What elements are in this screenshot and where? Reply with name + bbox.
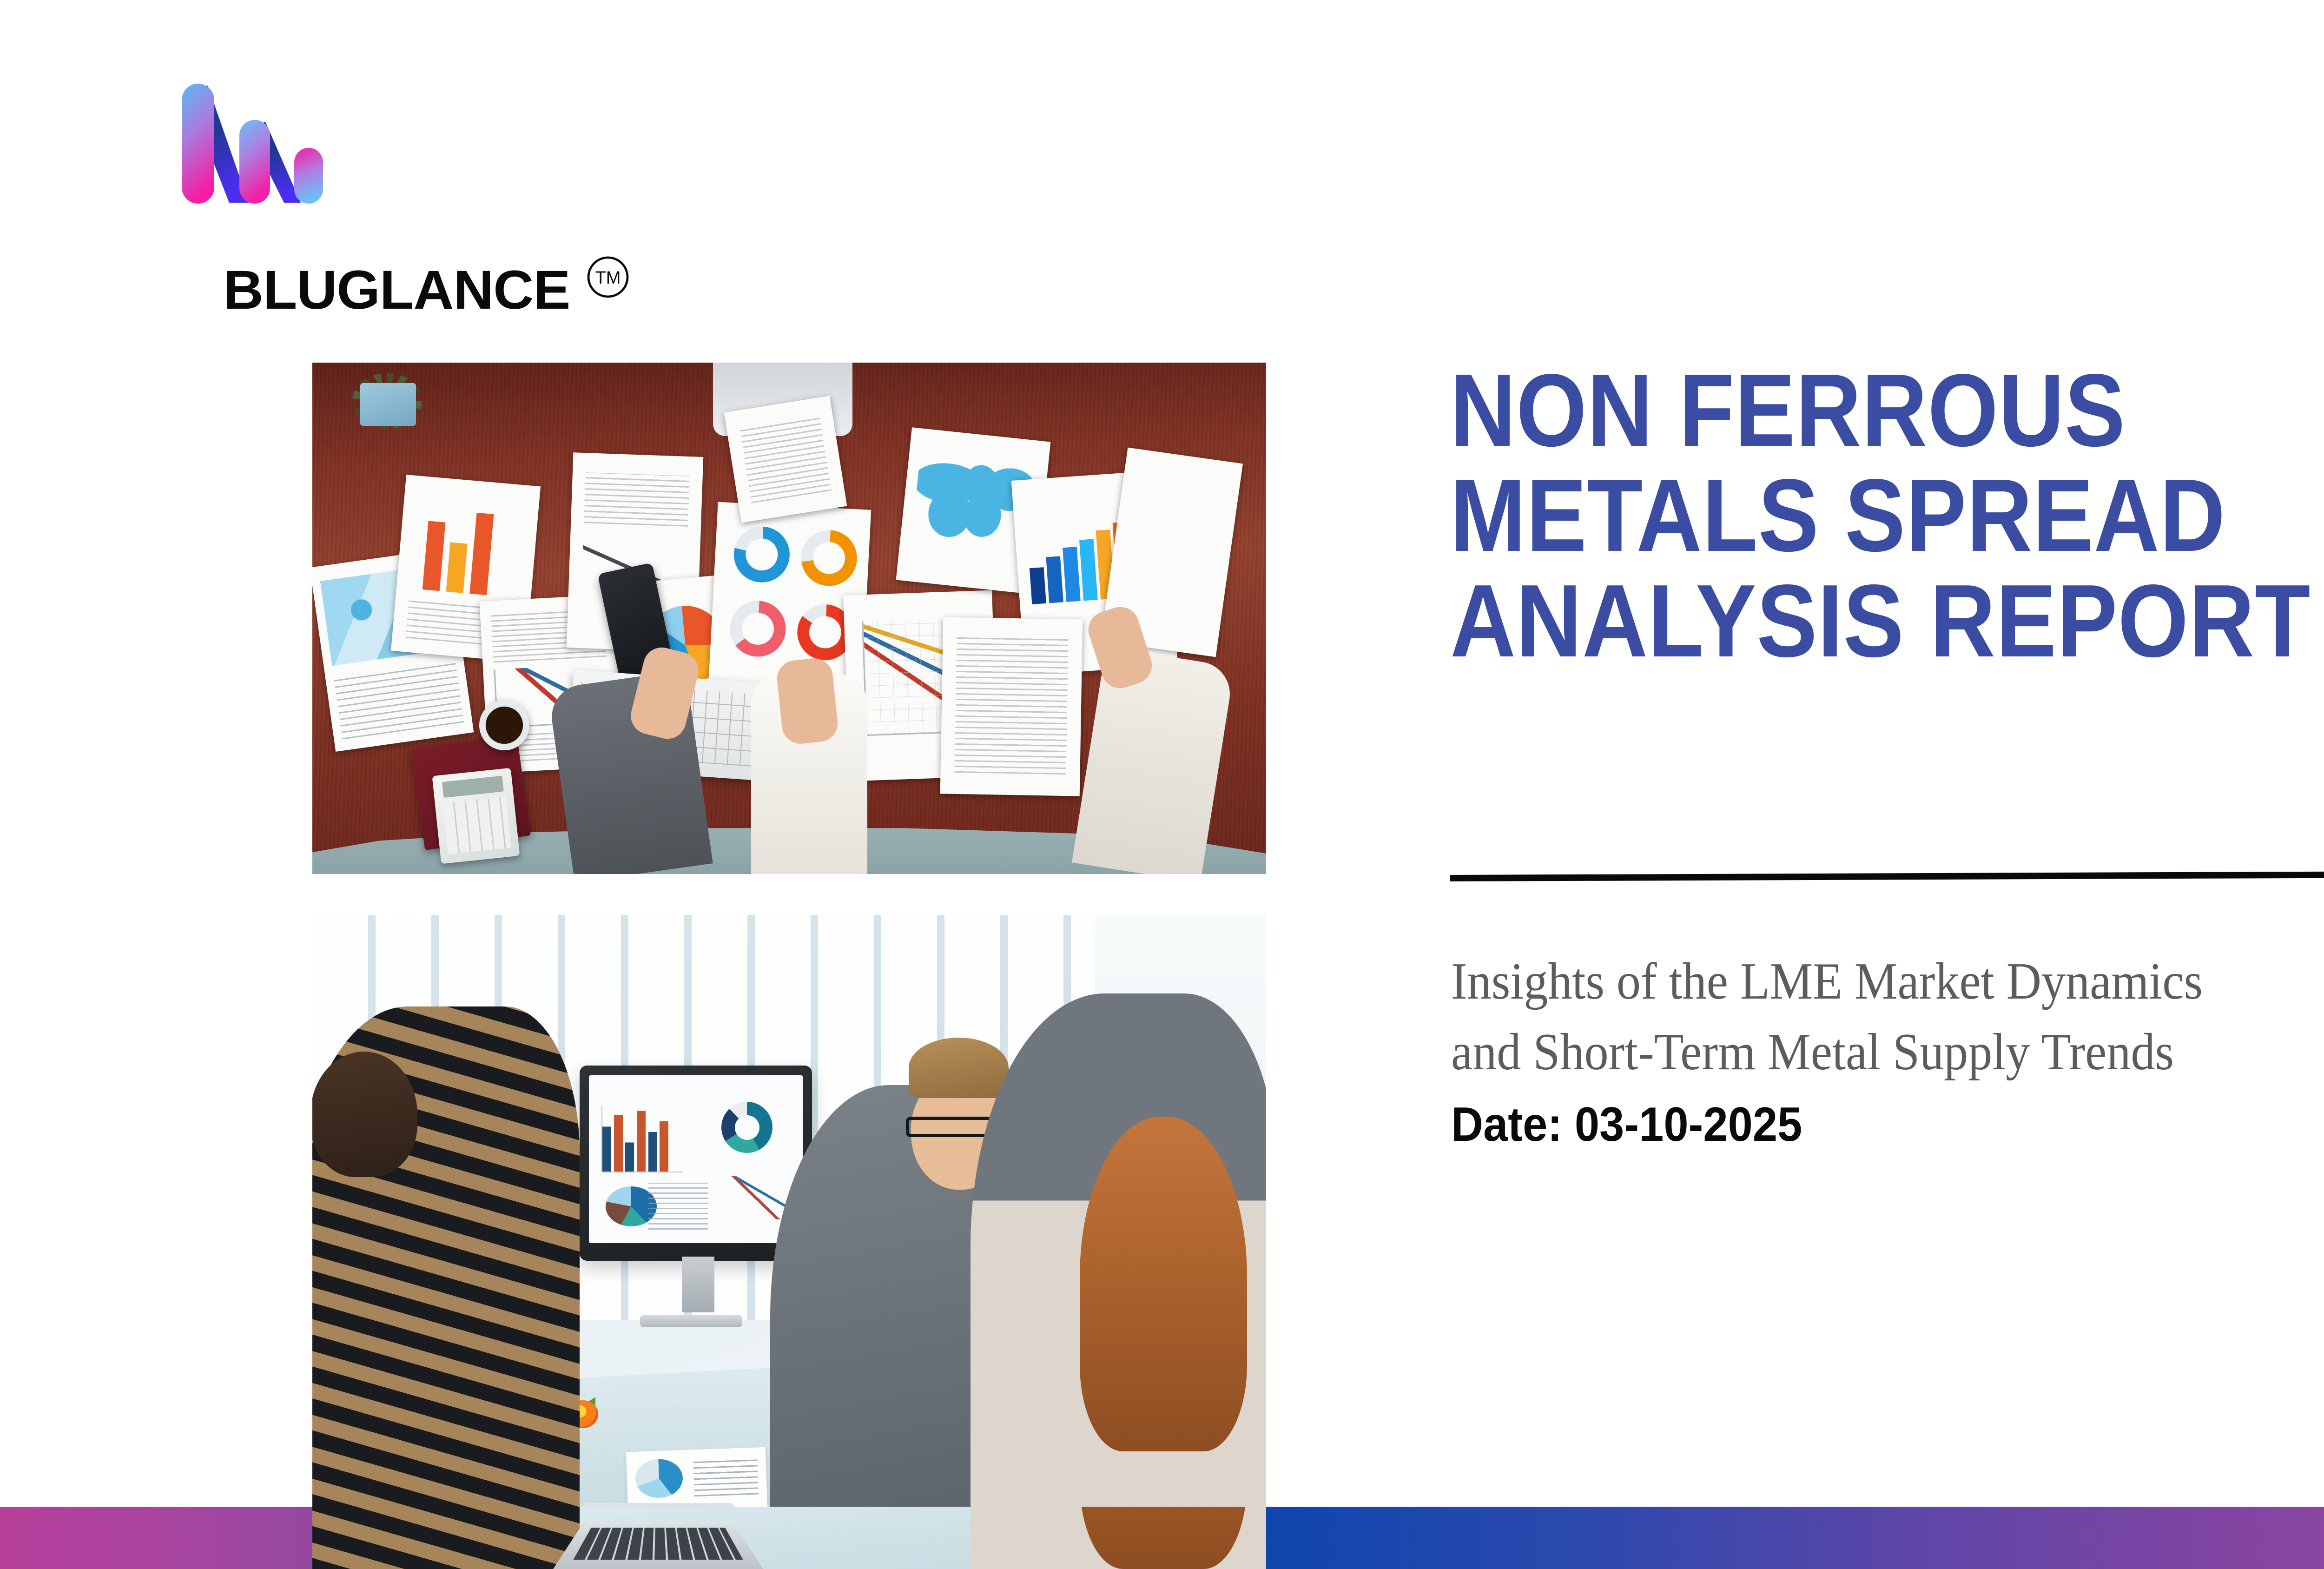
title-divider — [1450, 871, 2324, 881]
svg-text:TM: TM — [595, 268, 621, 288]
computer-foot — [640, 1315, 742, 1327]
office-team-reviewing-charts-photo — [312, 915, 1266, 1569]
report-text-column: NON FERROUS METALS SPREAD ANALYSIS REPOR… — [1450, 358, 2324, 674]
report-date: Date: 03-10-2025 — [1451, 1097, 1802, 1152]
bluglance-m-logo-icon — [174, 65, 342, 205]
hair — [312, 1052, 417, 1177]
screen-text-block — [648, 1183, 708, 1230]
person-left — [312, 1006, 580, 1569]
hair — [909, 1038, 1009, 1098]
page-title: NON FERROUS METALS SPREAD ANALYSIS REPOR… — [1450, 358, 2324, 674]
hand — [775, 656, 839, 746]
eyeglasses-icon — [906, 1117, 994, 1137]
photo-over-bar — [312, 1507, 1266, 1569]
screen-bar-chart — [601, 1106, 683, 1172]
report-cover-page: BLUGLANCE TM — [0, 0, 2324, 1569]
report-page — [940, 617, 1083, 796]
computer-stand — [682, 1257, 714, 1312]
trademark-icon: TM — [586, 255, 630, 299]
computer-screen — [589, 1075, 803, 1243]
office-scene — [312, 915, 1266, 1569]
overhead-desk-with-business-charts-photo — [312, 363, 1266, 874]
plant-pot — [360, 383, 416, 426]
hair — [1080, 1117, 1247, 1451]
coffee-cup — [479, 700, 529, 750]
report-subtitle: Insights of the LME Market Dynamics and … — [1451, 946, 2324, 1088]
screen-line-chart — [730, 1176, 786, 1219]
screen-donut-chart — [721, 1102, 772, 1153]
report-page — [724, 396, 847, 523]
calculator — [432, 768, 520, 864]
desktop-computer — [580, 1066, 812, 1261]
brand-wordmark: BLUGLANCE — [223, 263, 570, 318]
brand-logo[interactable]: BLUGLANCE TM — [153, 65, 572, 274]
